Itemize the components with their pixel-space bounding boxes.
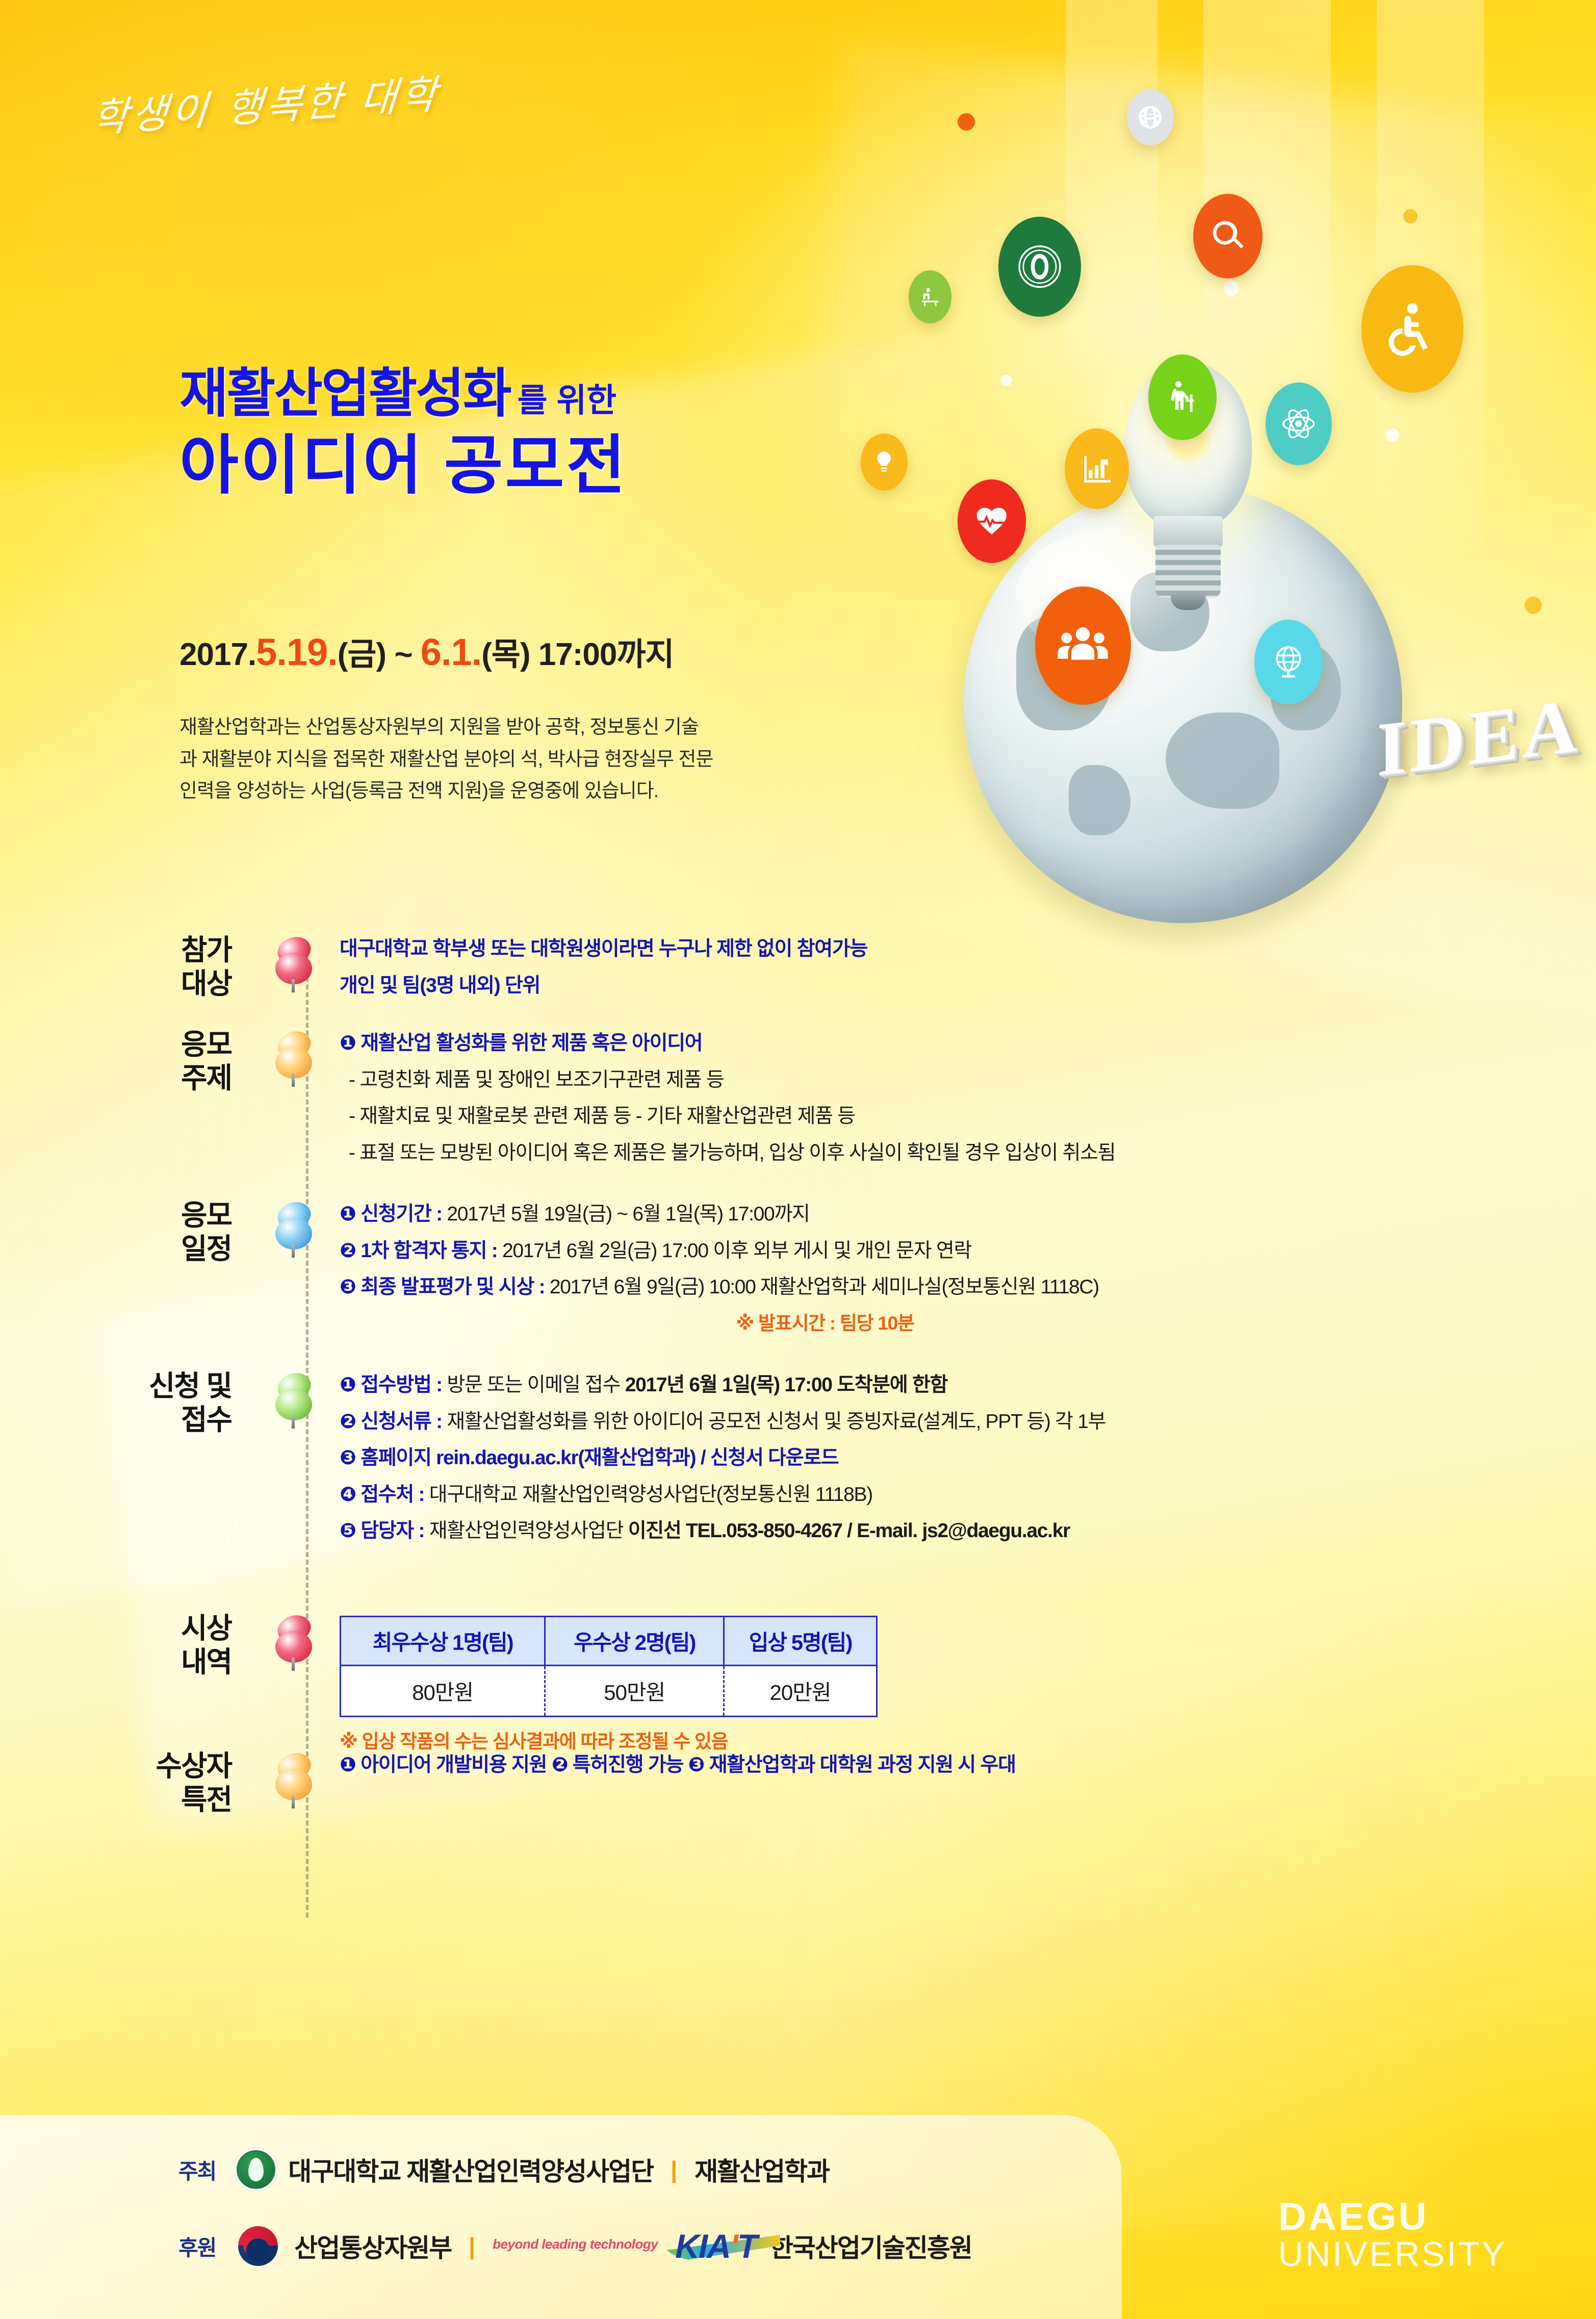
table-header-cell: 최우수상 1명(팀)	[341, 1617, 545, 1666]
sponsor-name: 산업통상자원부	[294, 2228, 451, 2264]
table-header-cell: 우수상 2명(팀)	[545, 1617, 724, 1666]
brand-line-1: DAEGU	[1278, 2197, 1507, 2237]
section-label-line1: 수상자	[0, 1749, 231, 1783]
line-value: 2017년 6월 2일(금) 17:00 이후 외부 게시 및 개인 문자 연락	[502, 1240, 971, 1262]
date-time: 17:00까지	[530, 637, 674, 672]
host-name: 대구대학교 재활산업인력양성사업단	[288, 2151, 653, 2188]
table-cell: 50만원	[545, 1666, 724, 1717]
section-line: ❹ 접수처 : 대구대학교 재활산업인력양성사업단(정보통신원 1118B)	[340, 1480, 1596, 1510]
desk-person-icon	[909, 270, 951, 323]
section-body: ❶ 재활산업 활성화를 위한 제품 혹은 아이디어- 고령친화 제품 및 장애인…	[326, 1028, 1596, 1175]
sections-container: 참가대상대구대학교 학부생 또는 대학원생이라면 누구나 제한 없이 참여가능개…	[0, 933, 1596, 1902]
host-tag: 주최	[178, 2154, 216, 2185]
section-line: ※ 발표시간 : 팀당 10분	[340, 1309, 1596, 1338]
heartbeat-icon	[958, 479, 1026, 563]
section-label: 신청 및접수	[0, 1369, 265, 1437]
section-line: ❶ 아이디어 개발비용 지원 ❷ 특허진행 가능 ❸ 재활산업학과 대학원 과정…	[340, 1750, 1596, 1780]
globe-image	[964, 485, 1402, 923]
section-body: 최우수상 1명(팀)우수상 2명(팀)입상 5명(팀)80만원50만원20만원※…	[326, 1612, 1596, 1763]
section-label-line1: 신청 및	[0, 1369, 231, 1403]
section-line: ❶ 신청기간 : 2017년 5월 19일(금) ~ 6월 1일(목) 17:0…	[340, 1200, 1596, 1230]
atom-icon	[1266, 383, 1332, 465]
kiat-tagline: beyond leading technology	[493, 2236, 658, 2252]
section-line: ❺ 담당자 : 재활산업인력양성사업단 이진선 TEL.053-850-4267…	[340, 1516, 1596, 1546]
section-label-line2: 특전	[0, 1783, 231, 1817]
sponsor-separator: |	[469, 2232, 475, 2260]
sponsor-tag: 후원	[178, 2231, 216, 2262]
hero-artwork: IDEA	[867, 77, 1596, 944]
line-value: 대구대학교 재활산업인력양성사업단(정보통신원 1118B)	[429, 1484, 872, 1506]
section-line: - 고령친화 제품 및 장애인 보조기구관련 제품 등	[340, 1065, 1596, 1095]
line-key: ❶ 접수방법 :	[340, 1374, 447, 1396]
line-key: ❷ 1차 합격자 통지 :	[340, 1240, 502, 1262]
line-emphasis: 2017년 6월 1일(목) 17:00 도착분에 한함	[625, 1374, 947, 1396]
section-line: ❸ 홈페이지 rein.daegu.ac.kr(재활산업학과) / 신청서 다운…	[340, 1443, 1596, 1473]
daegu-university-brand: DAEGU UNIVERSITY	[1278, 2197, 1507, 2272]
magnifier-icon	[1193, 194, 1263, 278]
section-line: ❶ 접수방법 : 방문 또는 이메일 접수 2017년 6월 1일(목) 17:…	[340, 1370, 1596, 1400]
line-value: 방문 또는 이메일 접수	[447, 1374, 625, 1396]
line-value: 재활산업활성화를 위한 아이디어 공모전 신청서 및 증빙자료(설계도, PPT…	[447, 1411, 1105, 1433]
section-body: ❶ 신청기간 : 2017년 5월 19일(금) ~ 6월 1일(목) 17:0…	[326, 1199, 1596, 1344]
light-sweep-2	[755, 45, 1596, 1022]
poster-footer: 주최 대구대학교 재활산업인력양성사업단 | 재활산업학과 후원 산업통상자원부…	[0, 2084, 1596, 2319]
section-line: ❸ 최종 발표평가 및 시상 : 2017년 6월 9일(금) 10:00 재활…	[340, 1272, 1596, 1303]
walker-elderly-icon	[1148, 354, 1217, 440]
section-label-line2: 대상	[0, 967, 231, 1001]
line-emphasis: 이진선 TEL.053-850-4267 / E-mail. js2@daegu…	[628, 1520, 1070, 1542]
section-line: 개인 및 팀(3명 내외) 단위	[340, 971, 1596, 1001]
line-value: 2017년 6월 9일(금) 10:00 재활산업학과 세미나실(정보통신원 1…	[550, 1276, 1099, 1298]
pushpin-icon	[274, 1373, 314, 1426]
section-label: 시상내역	[0, 1612, 265, 1679]
date-end: 6.1.	[421, 631, 481, 673]
bar-chart-icon	[1065, 428, 1129, 509]
date-end-day: (목)	[481, 637, 530, 672]
university-seal-icon	[998, 217, 1081, 317]
section-line: - 표절 또는 모방된 아이디어 혹은 제품은 불가능하며, 입상 이후 사실이…	[340, 1138, 1596, 1168]
title-rest: 를 위한	[518, 382, 616, 419]
section-0: 참가대상대구대학교 학부생 또는 대학원생이라면 누구나 제한 없이 참여가능개…	[0, 933, 1596, 1007]
brand-line-2: UNIVERSITY	[1278, 2237, 1507, 2272]
bg-band-2	[1203, 0, 1331, 510]
section-5: 수상자특전❶ 아이디어 개발비용 지원 ❷ 특허진행 가능 ❸ 재활산업학과 대…	[0, 1749, 1596, 1817]
table-cell: 80만원	[341, 1666, 545, 1717]
pushpin-icon	[274, 937, 314, 990]
program-description: 재활산업학과는 산업통상자원부의 지원을 받아 공학, 정보통신 기술과 재활분…	[179, 711, 715, 807]
bg-band-1	[1377, 0, 1484, 638]
host-row: 주최 대구대학교 재활산업인력양성사업단 | 재활산업학과	[178, 2148, 829, 2191]
section-label: 수상자특전	[0, 1749, 265, 1817]
section-label-line2: 내역	[0, 1645, 231, 1679]
line-value: 2017년 5월 19일(금) ~ 6월 1일(목) 17:00까지	[447, 1203, 809, 1225]
daegu-university-seal-icon	[234, 2148, 278, 2191]
event-date: 2017.5.19.(금) ~ 6.1.(목) 17:00까지	[179, 628, 674, 674]
section-label: 참가대상	[0, 933, 265, 1001]
pushpin-icon	[274, 1032, 314, 1085]
deco-dot-orange	[958, 113, 975, 131]
deco-dot-white-3	[1000, 375, 1012, 386]
table-row: 80만원50만원20만원	[341, 1666, 877, 1717]
motie-taeguk-icon	[234, 2224, 283, 2268]
section-label-line2: 접수	[0, 1403, 231, 1437]
section-label-line2: 일정	[0, 1232, 231, 1266]
section-line: - 재활치료 및 재활로봇 관련 제품 등 - 기타 재활산업관련 제품 등	[340, 1102, 1596, 1132]
prize-table-wrapper: 최우수상 1명(팀)우수상 2명(팀)입상 5명(팀)80만원50만원20만원	[340, 1616, 1596, 1717]
title-highlight: 재활산업활성화	[179, 364, 510, 423]
date-start-day: (금)	[338, 637, 386, 672]
section-label-line1: 응모	[0, 1028, 231, 1061]
section-line: ❶ 재활산업 활성화를 위한 제품 혹은 아이디어	[340, 1029, 1596, 1059]
line-value: 재활산업인력양성사업단	[429, 1520, 628, 1542]
deco-dot-yellow-2	[1525, 597, 1542, 614]
university-slogan: 학생이 행복한 대학	[90, 62, 443, 144]
date-year: 2017.	[179, 637, 256, 672]
date-start: 5.19.	[256, 631, 338, 673]
section-3: 신청 및접수❶ 접수방법 : 방문 또는 이메일 접수 2017년 6월 1일(…	[0, 1369, 1596, 1553]
line-key: ❸ 최종 발표평가 및 시상 :	[340, 1276, 550, 1298]
lightbulb-screw	[1155, 545, 1221, 598]
section-line: 대구대학교 학부생 또는 대학원생이라면 누구나 제한 없이 참여가능	[340, 934, 1596, 964]
lightbulb-neck	[1153, 516, 1223, 547]
wheelchair-icon	[1361, 265, 1463, 393]
lightbulb-image	[1124, 362, 1252, 530]
lightbulb-tip	[1171, 595, 1205, 610]
globe-grid-icon	[1127, 89, 1174, 145]
footer-panel	[0, 2115, 1122, 2319]
section-body: ❶ 아이디어 개발비용 지원 ❷ 특허진행 가능 ❸ 재활산업학과 대학원 과정…	[326, 1749, 1596, 1787]
globe-stand-icon	[1254, 620, 1323, 704]
section-1: 응모주제❶ 재활산업 활성화를 위한 제품 혹은 아이디어- 고령친화 제품 및…	[0, 1028, 1596, 1175]
line-key: ❹ 접수처 :	[340, 1484, 429, 1506]
section-label-line1: 참가	[0, 933, 231, 967]
bg-band-3	[1066, 0, 1157, 398]
page-title: 재활산업활성화를 위한 아이디어 공모전	[179, 367, 944, 498]
section-label: 응모주제	[0, 1028, 265, 1095]
pushpin-icon	[274, 1616, 314, 1669]
line-key: ❺ 담당자 :	[340, 1520, 429, 1542]
deco-dot-white-1	[1224, 281, 1239, 296]
kiat-name: 한국산업기술진흥원	[770, 2228, 972, 2264]
table-header-row: 최우수상 1명(팀)우수상 2명(팀)입상 5명(팀)	[341, 1617, 877, 1666]
pushpin-icon	[274, 1203, 314, 1256]
section-line: ❷ 신청서류 : 재활산업활성화를 위한 아이디어 공모전 신청서 및 증빙자료…	[340, 1407, 1596, 1437]
kiat-wordmark: KIA'T	[675, 2227, 757, 2265]
table-header-cell: 입상 5명(팀)	[724, 1617, 877, 1666]
section-label-line1: 응모	[0, 1199, 231, 1232]
host-separator: |	[671, 2156, 677, 2183]
sponsor-row: 후원 산업통상자원부 | beyond leading technology K…	[178, 2224, 972, 2268]
section-label: 응모일정	[0, 1199, 265, 1266]
section-4: 시상내역최우수상 1명(팀)우수상 2명(팀)입상 5명(팀)80만원50만원2…	[0, 1612, 1596, 1763]
poster-canvas: 학생이 행복한 대학 IDEA	[0, 0, 1596, 2319]
deco-dot-yellow	[1403, 209, 1418, 223]
section-label-line1: 시상	[0, 1612, 231, 1645]
line-key: ❶ 신청기간 :	[340, 1203, 447, 1225]
people-group-icon	[1035, 587, 1131, 705]
host-department: 재활산업학과	[694, 2151, 829, 2188]
line-key: ❷ 신청서류 :	[340, 1411, 447, 1433]
section-label-line2: 주제	[0, 1061, 231, 1095]
table-cell: 20만원	[724, 1666, 877, 1717]
date-tilde: ~	[386, 637, 421, 672]
title-main: 아이디어 공모전	[179, 434, 944, 498]
section-2: 응모일정❶ 신청기간 : 2017년 5월 19일(금) ~ 6월 1일(목) …	[0, 1199, 1596, 1344]
section-body: 대구대학교 학부생 또는 대학원생이라면 누구나 제한 없이 참여가능개인 및 …	[326, 933, 1596, 1007]
kiat-logo: beyond leading technology KIA'T	[493, 2227, 757, 2265]
idea-word: IDEA	[1377, 681, 1580, 794]
deco-dot-white-2	[1386, 428, 1399, 442]
prize-table: 최우수상 1명(팀)우수상 2명(팀)입상 5명(팀)80만원50만원20만원	[340, 1616, 878, 1717]
section-line: ❷ 1차 합격자 통지 : 2017년 6월 2일(금) 17:00 이후 외부…	[340, 1236, 1596, 1266]
section-body: ❶ 접수방법 : 방문 또는 이메일 접수 2017년 6월 1일(목) 17:…	[326, 1369, 1596, 1553]
pushpin-icon	[274, 1753, 314, 1806]
